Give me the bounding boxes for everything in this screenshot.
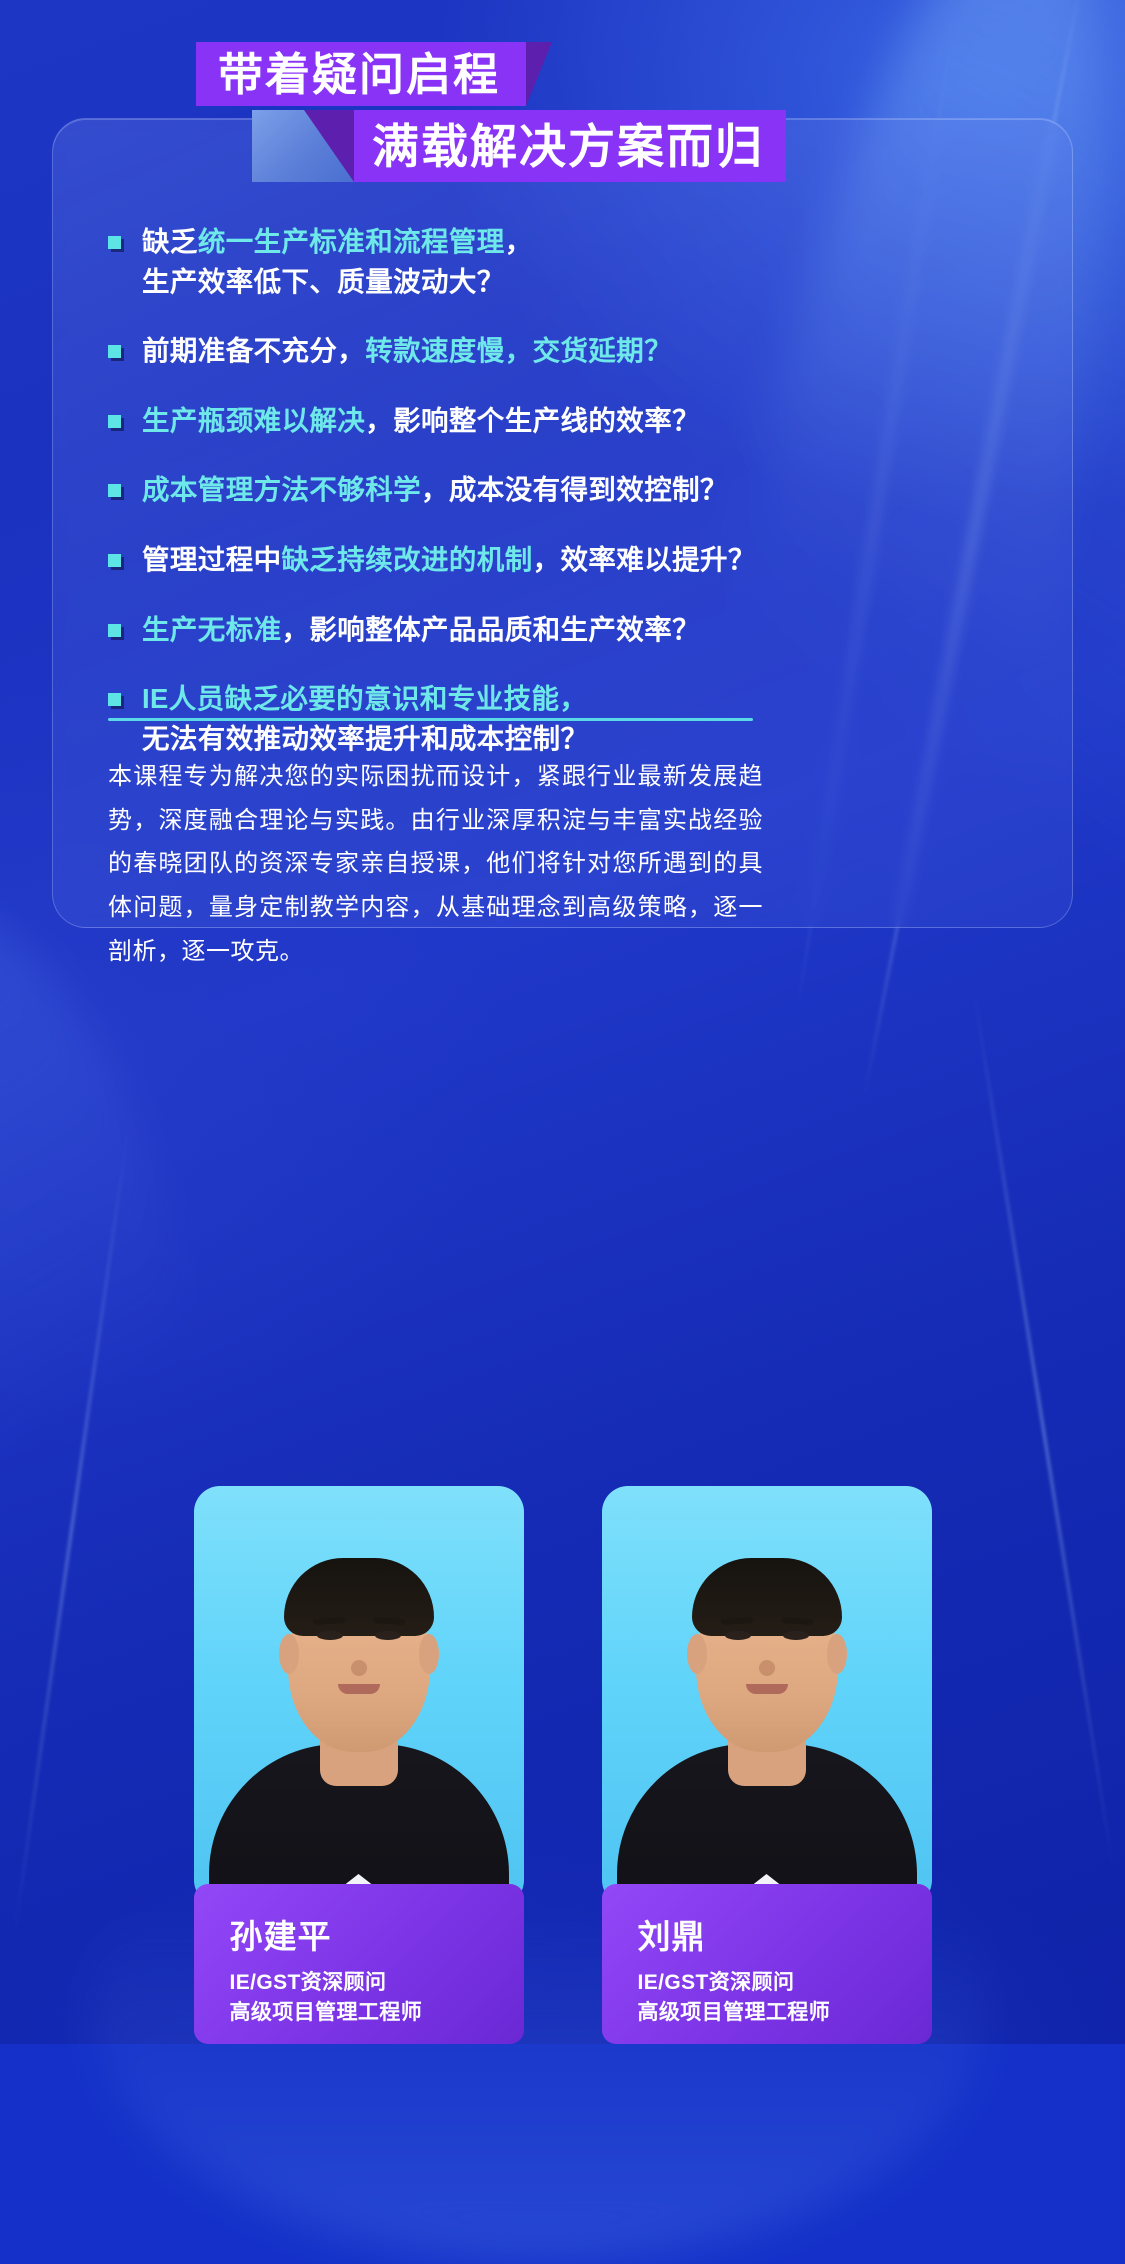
list-item-text: 生产无标准，影响整体产品品质和生产效率？ [142,610,700,650]
presenter-nameplate: 刘鼎IE/GST资深顾问高级项目管理工程师 [602,1884,932,2044]
section-divider [108,718,753,721]
ear-left-shape [687,1634,707,1674]
list-item-line: 生产效率低下、质量波动大？ [142,262,533,302]
text-segment: 缺乏 [142,226,198,257]
list-item-line: 成本管理方法不够科学，成本没有得到效控制？ [142,470,728,510]
list-item: 生产瓶颈难以解决，影响整个生产线的效率？ [108,401,1008,441]
square-bullet-icon [108,236,121,249]
presenter-name: 刘鼎 [638,1910,932,1958]
hair-shape [692,1558,842,1636]
square-bullet-icon [108,554,121,567]
text-segment: 转款速度慢，交货延期？ [365,335,672,366]
text-segment: ，成本没有得到效控制？ [421,474,728,505]
presenter-role-line2: 高级项目管理工程师 [638,1998,932,2028]
eye-left-shape [725,1631,751,1640]
headline-banner-primary-notch [526,42,552,106]
text-segment: IE人员缺乏必要的意识和专业技能， [142,683,587,714]
text-segment: 管理过程中 [142,544,282,575]
mouth-shape [338,1684,380,1694]
eye-left-shape [317,1631,343,1640]
text-segment: ， [505,226,533,257]
list-item-text: 管理过程中缺乏持续改进的机制，效率难以提升？ [142,540,756,580]
nose-shape [351,1660,367,1676]
text-segment: 统一生产标准和流程管理 [198,226,505,257]
presenter-card[interactable]: 孙建平IE/GST资深顾问高级项目管理工程师 [194,1484,524,2044]
pain-point-list: 缺乏统一生产标准和流程管理，生产效率低下、质量波动大？前期准备不充分，转款速度慢… [108,222,1008,788]
ear-right-shape [419,1634,439,1674]
presenter-list: 孙建平IE/GST资深顾问高级项目管理工程师刘鼎IE/GST资深顾问高级项目管理… [0,1050,1125,2044]
eye-right-shape [375,1631,401,1640]
list-item: 缺乏统一生产标准和流程管理，生产效率低下、质量波动大？ [108,222,1008,301]
text-segment: ，效率难以提升？ [533,544,756,575]
hair-shape [284,1558,434,1636]
list-item-line: 缺乏统一生产标准和流程管理， [142,222,533,262]
list-item-text: 成本管理方法不够科学，成本没有得到效控制？ [142,470,728,510]
headline-banner-secondary: 满载解决方案而归 [252,110,786,182]
headline-line1-text: 带着疑问启程 [196,42,526,106]
presenter-role-line1: IE/GST资深顾问 [638,1968,932,1998]
text-segment: 成本管理方法不够科学 [142,474,421,505]
list-item-line: IE人员缺乏必要的意识和专业技能， [142,679,588,719]
square-bullet-icon [108,484,121,497]
mouth-shape [746,1684,788,1694]
eye-right-shape [783,1631,809,1640]
headline-group: 带着疑问启程 满载解决方案而归 [0,42,1125,232]
list-item-text: 生产瓶颈难以解决，影响整个生产线的效率？ [142,401,700,441]
presenter-nameplate: 孙建平IE/GST资深顾问高级项目管理工程师 [194,1884,524,2044]
list-item-text: 缺乏统一生产标准和流程管理，生产效率低下、质量波动大？ [142,222,533,301]
list-item-line: 前期准备不充分，转款速度慢，交货延期？ [142,331,672,371]
presenter-name: 孙建平 [230,1910,524,1958]
text-segment: 缺乏持续改进的机制 [282,544,533,575]
presenter-role-line2: 高级项目管理工程师 [230,1998,524,2028]
list-item-line: 生产瓶颈难以解决，影响整个生产线的效率？ [142,401,700,441]
presenter-card[interactable]: 刘鼎IE/GST资深顾问高级项目管理工程师 [602,1484,932,2044]
text-segment: 无法有效推动效率提升和成本控制？ [142,723,588,754]
text-segment: 前期准备不充分， [142,335,365,366]
text-segment: 生产效率低下、质量波动大？ [142,266,505,297]
list-item-line: 无法有效推动效率提升和成本控制？ [142,719,588,759]
text-segment: ，影响整个生产线的效率？ [365,405,700,436]
square-bullet-icon [108,693,121,706]
headline-banner-primary: 带着疑问启程 [196,42,552,106]
list-item: 前期准备不充分，转款速度慢，交货延期？ [108,331,1008,371]
square-bullet-icon [108,345,121,358]
list-item-text: 前期准备不充分，转款速度慢，交货延期？ [142,331,672,371]
text-segment: 生产无标准 [142,614,282,645]
headline-line2-text: 满载解决方案而归 [354,110,786,182]
list-item-line: 管理过程中缺乏持续改进的机制，效率难以提升？ [142,540,756,580]
list-item: 生产无标准，影响整体产品品质和生产效率？ [108,610,1008,650]
square-bullet-icon [108,415,121,428]
text-segment: ，影响整体产品品质和生产效率？ [282,614,701,645]
ear-right-shape [827,1634,847,1674]
text-segment: 生产瓶颈难以解决 [142,405,365,436]
course-description-paragraph: 本课程专为解决您的实际困扰而设计，紧跟行业最新发展趋势，深度融合理论与实践。由行… [108,755,763,973]
nose-shape [759,1660,775,1676]
ear-left-shape [279,1634,299,1674]
list-item: 成本管理方法不够科学，成本没有得到效控制？ [108,470,1008,510]
square-bullet-icon [108,624,121,637]
headline-banner-secondary-tab [252,110,354,182]
list-item: 管理过程中缺乏持续改进的机制，效率难以提升？ [108,540,1008,580]
presenter-role-line1: IE/GST资深顾问 [230,1968,524,1998]
list-item-line: 生产无标准，影响整体产品品质和生产效率？ [142,610,700,650]
